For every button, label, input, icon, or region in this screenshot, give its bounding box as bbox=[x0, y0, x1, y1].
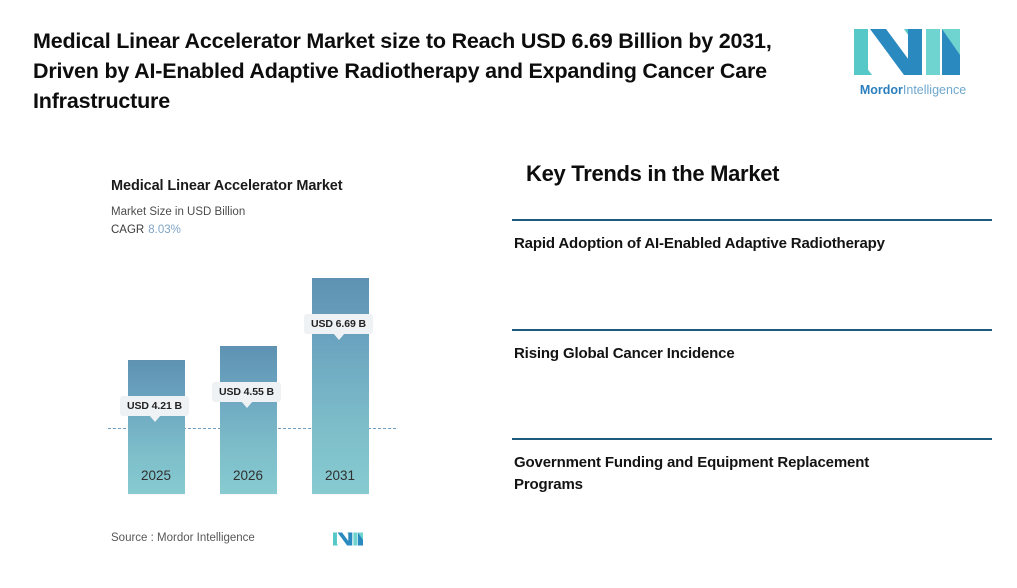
bar-2031 bbox=[312, 278, 369, 494]
page-title: Medical Linear Accelerator Market size t… bbox=[33, 26, 823, 116]
bar-chart-plot: USD 4.21 B 2025 USD 4.55 B 2026 USD 6.69… bbox=[100, 240, 500, 500]
brand-logo: MordorIntelligence bbox=[851, 25, 975, 107]
key-trends-panel: Key Trends in the Market Rapid Adoption … bbox=[512, 155, 992, 535]
source-name: Mordor Intelligence bbox=[157, 532, 255, 544]
mordor-intelligence-logo-icon bbox=[854, 25, 960, 79]
bar-value-badge-2025: USD 4.21 B bbox=[120, 396, 189, 416]
mordor-intelligence-mark-icon bbox=[333, 530, 363, 548]
x-axis-label-2025: 2025 bbox=[121, 468, 191, 483]
cagr-label: CAGR bbox=[111, 224, 144, 236]
x-axis-label-2026: 2026 bbox=[213, 468, 283, 483]
chart-source-row: Source : Mordor Intelligence bbox=[111, 530, 491, 552]
trend-item-label: Government Funding and Equipment Replace… bbox=[514, 452, 914, 496]
trend-item-label: Rising Global Cancer Incidence bbox=[514, 343, 914, 365]
chart-subtitle: Market Size in USD Billion bbox=[111, 206, 245, 218]
trend-divider bbox=[512, 438, 992, 440]
chart-cagr: CAGR8.03% bbox=[111, 224, 181, 236]
page-header: Medical Linear Accelerator Market size t… bbox=[0, 0, 1017, 140]
trend-divider bbox=[512, 329, 992, 331]
brand-logo-text: MordorIntelligence bbox=[851, 83, 975, 98]
chart-panel: Medical Linear Accelerator Market Market… bbox=[100, 170, 500, 560]
key-trends-heading: Key Trends in the Market bbox=[526, 161, 779, 187]
brand-name-bold: Mordor bbox=[860, 83, 903, 97]
bar-value-badge-2026: USD 4.55 B bbox=[212, 382, 281, 402]
chart-title: Medical Linear Accelerator Market bbox=[111, 178, 342, 194]
trend-divider bbox=[512, 219, 992, 221]
cagr-value: 8.03% bbox=[148, 224, 181, 236]
chart-source-text: Source : Mordor Intelligence bbox=[111, 532, 255, 544]
bar-value-badge-2031: USD 6.69 B bbox=[304, 314, 373, 334]
source-label: Source : bbox=[111, 532, 154, 544]
x-axis-label-2031: 2031 bbox=[305, 468, 375, 483]
trend-item-label: Rapid Adoption of AI-Enabled Adaptive Ra… bbox=[514, 233, 914, 255]
brand-name-light: Intelligence bbox=[903, 83, 966, 97]
